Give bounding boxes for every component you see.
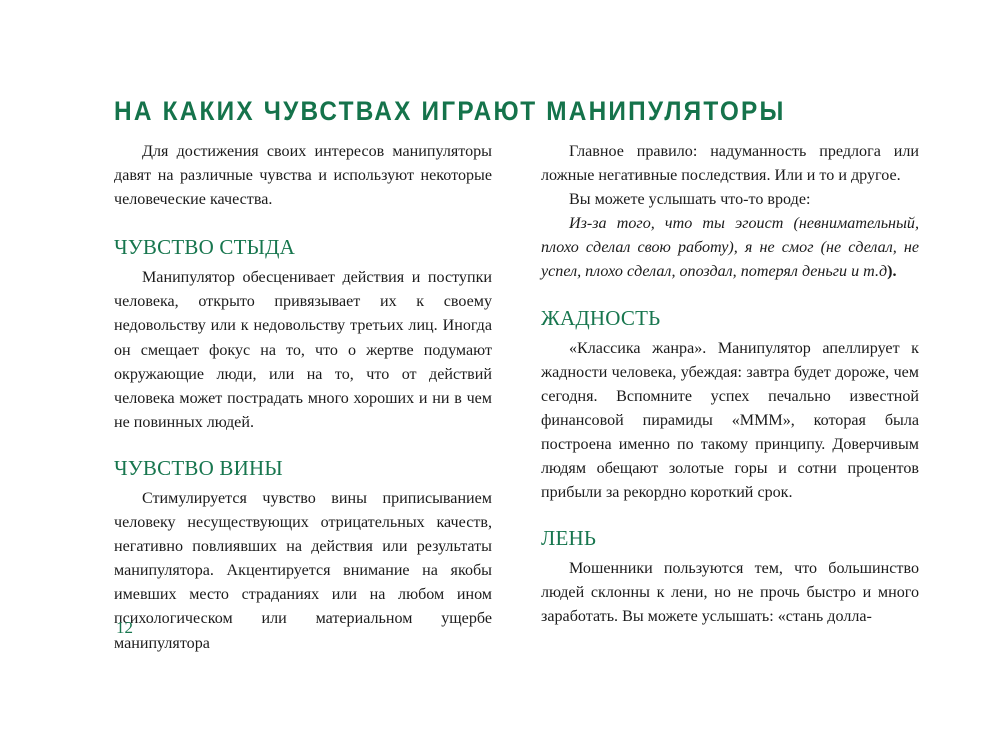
section-heading-guilt: ЧУВСТВО ВИНЫ <box>114 455 492 481</box>
section-paragraph-greed: «Классика жанра». Манипулятор апеллирует… <box>541 337 919 506</box>
right-column: Главное правило: надуманность предлога и… <box>541 140 919 610</box>
example-quote: Из-за того, что ты эгоист (невнимательны… <box>541 212 919 284</box>
spacer <box>541 285 919 305</box>
section-heading-greed: ЖАДНОСТЬ <box>541 305 919 331</box>
section-paragraph-shame: Манипулятор обесценивает действия и пост… <box>114 266 492 435</box>
intro-paragraph: Для достижения своих интересов манипулят… <box>114 140 492 212</box>
document-page: НА КАКИХ ЧУВСТВАХ ИГРАЮТ МАНИПУЛЯТОРЫ Дл… <box>0 0 1000 732</box>
section-heading-laziness: ЛЕНЬ <box>541 525 919 551</box>
page-title: НА КАКИХ ЧУВСТВАХ ИГРАЮТ МАНИПУЛЯТОРЫ <box>114 96 832 126</box>
two-column-body: Для достижения своих интересов манипулят… <box>114 140 920 610</box>
spacer <box>541 505 919 525</box>
left-column: Для достижения своих интересов манипулят… <box>114 140 492 610</box>
section-paragraph-laziness: Мошенники пользуются тем, что большинств… <box>541 557 919 629</box>
spacer <box>114 435 492 455</box>
page-number: 12 <box>116 618 133 638</box>
section-paragraph-guilt: Стимулируется чувство вины приписыванием… <box>114 487 492 656</box>
lead-paragraph-secondary: Вы можете услышать что-то вроде: <box>541 188 919 212</box>
lead-paragraph: Главное правило: надуманность предлога и… <box>541 140 919 188</box>
example-quote-italic: Из-за того, что ты эгоист (невнимательны… <box>541 215 919 280</box>
spacer <box>114 212 492 234</box>
example-quote-tail: ). <box>887 263 896 280</box>
section-heading-shame: ЧУВСТВО СТЫДА <box>114 234 492 260</box>
